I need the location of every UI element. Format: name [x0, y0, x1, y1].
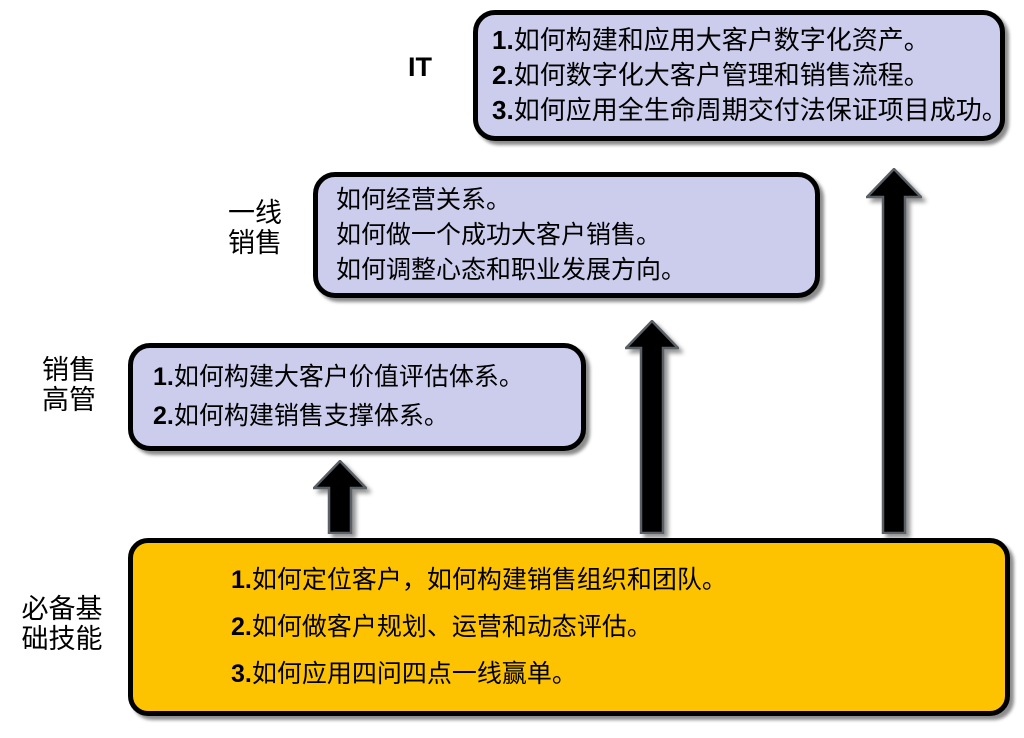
list-number: 1. — [492, 25, 514, 55]
level-label-foundation-skills: 必备基 础技能 — [6, 594, 118, 654]
level-box-it-line-2: 2.如何数字化大客户管理和销售流程。 — [492, 62, 1000, 89]
level-box-it-line-3: 3.如何应用全生命周期交付法保证项目成功。 — [492, 97, 1000, 124]
list-number: 2. — [492, 60, 514, 90]
list-number: 1. — [153, 363, 174, 391]
level-label-frontline-sales: 一线 销售 — [212, 198, 298, 258]
level-box-frontline-line-1: 如何经营关系。 — [336, 188, 815, 213]
list-text: 如何构建大客户价值评估体系。 — [174, 364, 524, 391]
up-arrow-icon-foundation-to-it — [866, 168, 922, 534]
level-label-sales-executive: 销售 高管 — [26, 355, 112, 415]
list-text: 如何构建销售支撑体系。 — [174, 403, 449, 430]
list-number: 2. — [231, 613, 252, 641]
level-box-executive-line-2: 2.如何构建销售支撑体系。 — [153, 404, 581, 429]
level-box-sales-executive: 1.如何构建大客户价值评估体系。 2.如何构建销售支撑体系。 — [128, 343, 586, 451]
level-box-it: 1.如何构建和应用大客户数字化资产。 2.如何数字化大客户管理和销售流程。 3.… — [473, 10, 1005, 141]
list-text: 如何调整心态和职业发展方向。 — [336, 257, 686, 284]
up-arrow-icon-foundation-to-frontline — [625, 320, 679, 534]
list-text: 如何做一个成功大客户销售。 — [336, 222, 661, 249]
list-number: 3. — [231, 660, 252, 688]
list-text: 如何定位客户，如何构建销售组织和团队。 — [252, 567, 727, 594]
level-box-foundation-line-2: 2.如何做客户规划、运营和动态评估。 — [231, 615, 1005, 640]
list-text: 如何构建和应用大客户数字化资产。 — [514, 26, 930, 55]
list-number: 3. — [492, 95, 514, 125]
level-box-frontline-line-2: 如何做一个成功大客户销售。 — [336, 223, 815, 248]
level-label-it: IT — [380, 52, 460, 82]
up-arrow-icon-foundation-to-executive — [313, 460, 367, 534]
diagram-canvas: IT 一线 销售 销售 高管 必备基 础技能 1.如何构建和应用大客户数字化资产… — [0, 0, 1024, 738]
list-text: 如何做客户规划、运营和动态评估。 — [252, 614, 652, 641]
list-text: 如何经营关系。 — [336, 187, 511, 214]
list-text: 如何数字化大客户管理和销售流程。 — [514, 61, 930, 90]
level-box-frontline-line-3: 如何调整心态和职业发展方向。 — [336, 258, 815, 283]
level-box-foundation-line-3: 3.如何应用四问四点一线赢单。 — [231, 662, 1005, 687]
list-text: 如何应用全生命周期交付法保证项目成功。 — [514, 96, 1008, 125]
level-box-foundation-skills: 1.如何定位客户，如何构建销售组织和团队。 2.如何做客户规划、运营和动态评估。… — [128, 538, 1010, 716]
level-box-it-line-1: 1.如何构建和应用大客户数字化资产。 — [492, 27, 1000, 54]
list-number: 2. — [153, 402, 174, 430]
level-box-foundation-line-1: 1.如何定位客户，如何构建销售组织和团队。 — [231, 568, 1005, 593]
list-number: 1. — [231, 566, 252, 594]
list-text: 如何应用四问四点一线赢单。 — [252, 661, 577, 688]
level-box-executive-line-1: 1.如何构建大客户价值评估体系。 — [153, 365, 581, 390]
level-box-frontline-sales: 如何经营关系。 如何做一个成功大客户销售。 如何调整心态和职业发展方向。 — [313, 172, 820, 298]
